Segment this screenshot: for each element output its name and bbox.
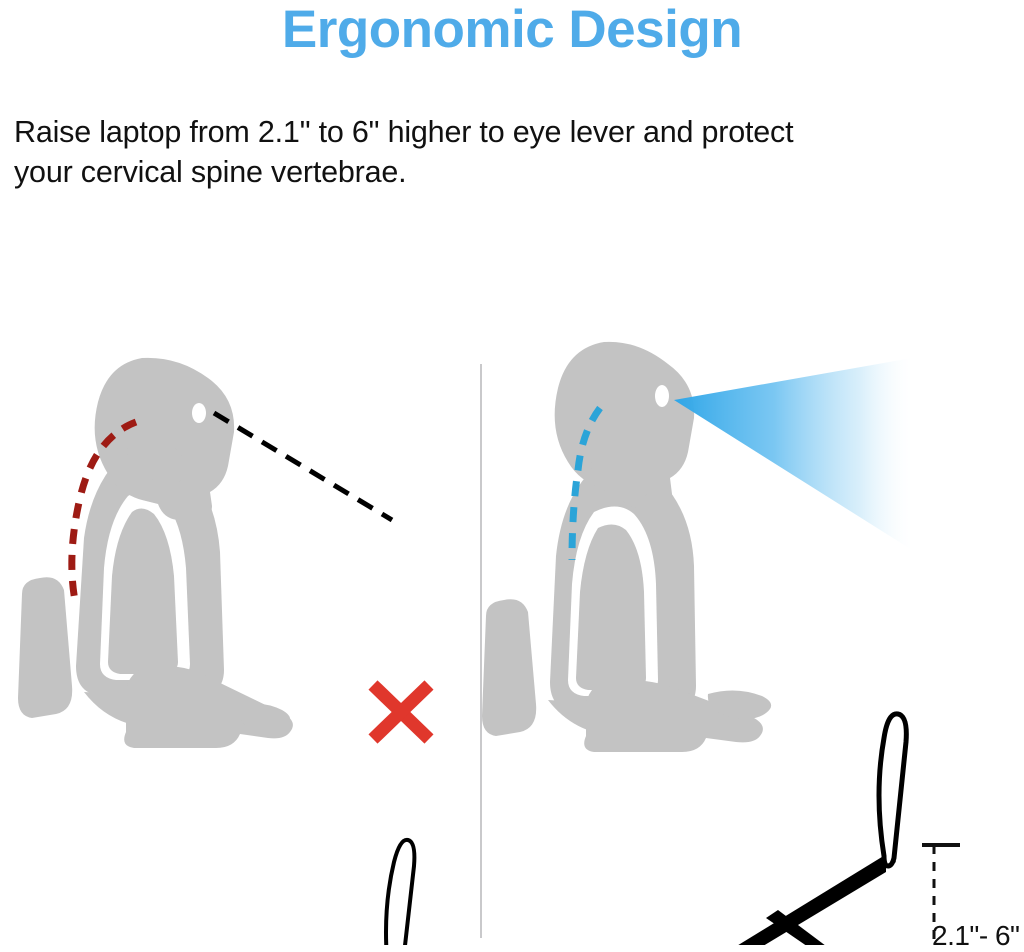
laptop-stand-right bbox=[663, 714, 907, 945]
sight-cone-right bbox=[674, 358, 912, 550]
incorrect-posture-scene bbox=[0, 300, 480, 945]
eye-left bbox=[192, 403, 206, 423]
laptop-screen-left bbox=[386, 840, 414, 945]
chair-backrest-left bbox=[18, 577, 72, 718]
subtitle-line-2: your cervical spine vertebrae. bbox=[14, 152, 1014, 192]
chair-backrest-right bbox=[482, 599, 536, 736]
panel-incorrect-posture bbox=[0, 300, 480, 945]
cross-icon bbox=[364, 676, 438, 748]
laptop-screen-right bbox=[879, 714, 906, 866]
eye-right bbox=[655, 385, 669, 407]
laptop-left bbox=[8, 840, 414, 945]
sight-line-left bbox=[214, 413, 392, 520]
height-range-label: 2.1"- 6" bbox=[932, 920, 1019, 952]
illustration-area: 2.1"- 6" bbox=[0, 300, 1024, 945]
subtitle-line-1: Raise laptop from 2.1" to 6" higher to e… bbox=[14, 115, 793, 149]
page-subtitle: Raise laptop from 2.1" to 6" higher to e… bbox=[14, 112, 1014, 193]
panel-correct-posture bbox=[482, 300, 1024, 945]
correct-posture-scene bbox=[482, 300, 1024, 945]
ergonomic-design-infographic: Ergonomic Design Raise laptop from 2.1" … bbox=[0, 0, 1024, 945]
page-title: Ergonomic Design bbox=[0, 2, 1024, 58]
